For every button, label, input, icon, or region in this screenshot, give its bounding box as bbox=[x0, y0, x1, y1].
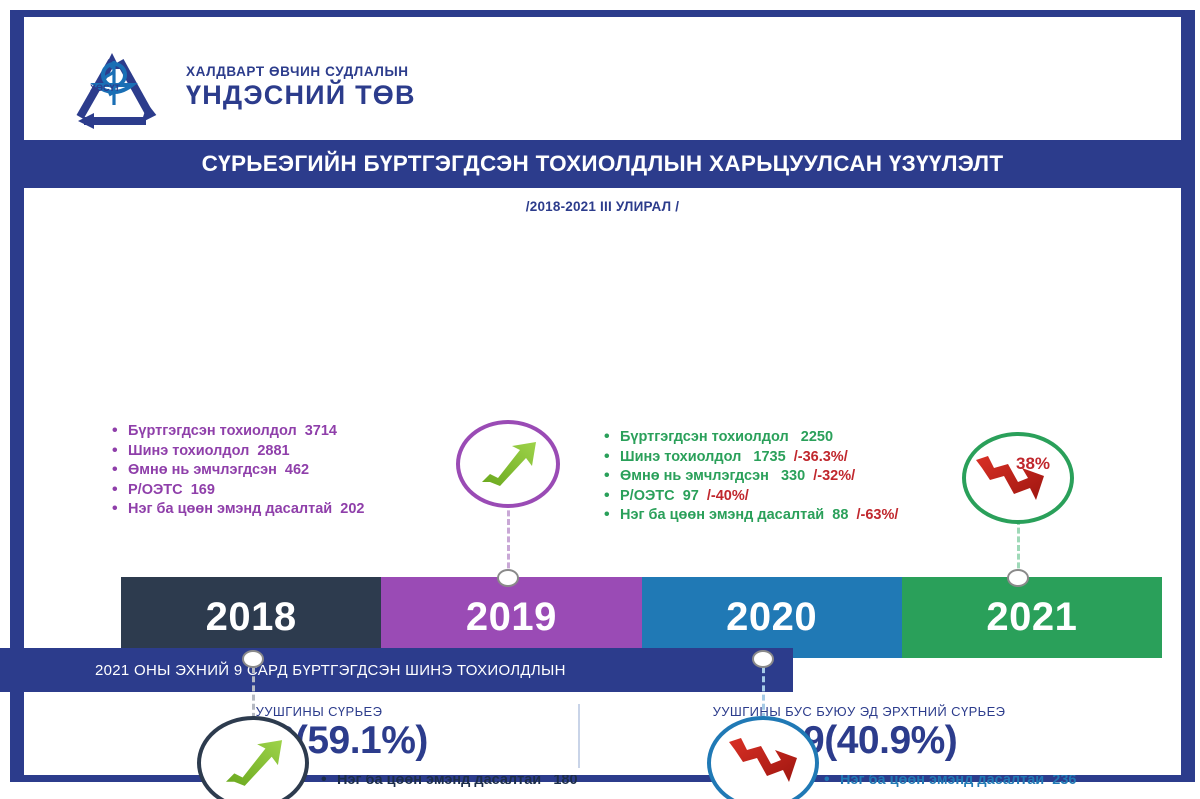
list-item: Р/ОЭТС 169 bbox=[112, 481, 365, 501]
footer-band: 2021 ОНЫ ЭХНИЙ 9 САРД БҮРТГЭГДСЭН ШИНЭ Т… bbox=[0, 648, 793, 692]
title-bar: СҮРЬЕЭГИЙН БҮРТГЭГДСЭН ТОХИОЛДЛЫН ХАРЬЦУ… bbox=[10, 140, 1195, 188]
infographic-page: ХӨСҮТ ХАЛДВАРТ ӨВЧИН СУДЛАЛЫН ҮНДЭСНИЙ Т… bbox=[0, 0, 1200, 799]
list-item: Шинэ тохиолдол 1735 /-36.3%/ bbox=[604, 448, 898, 468]
list-item: Нэг ба цөөн эмэнд дасалтай 88 /-63%/ bbox=[604, 506, 898, 526]
badge-2018[interactable] bbox=[197, 716, 309, 799]
metric-label: Р/ОЭТС bbox=[128, 482, 183, 498]
metric-label: Бүртгэгдсэн тохиолдол bbox=[128, 423, 297, 439]
org-name-line2: ҮНДЭСНИЙ ТӨВ bbox=[186, 81, 416, 111]
list-item: Өмнө нь эмчлэгдсэн 330 /-32%/ bbox=[604, 467, 898, 487]
list-item: Нэг ба цөөн эмэнд дасалтай 202 bbox=[112, 500, 365, 520]
data-block-2020: Бүртгэгдсэн тохиолдол 2250 Шинэ тохиолдо… bbox=[604, 428, 898, 526]
timeline-segment-2019[interactable]: 2019 bbox=[381, 577, 641, 658]
metric-value: 1735 bbox=[753, 449, 785, 465]
stat-caption: УУШГИНЫ СҮРЬЕЭ bbox=[109, 704, 529, 719]
arrow-up-green-icon bbox=[476, 438, 540, 490]
badge-percent-2021: 38% bbox=[1016, 454, 1050, 474]
timeline-node-2018[interactable] bbox=[242, 650, 264, 668]
timeline-bar: 2018 2019 2020 2021 bbox=[121, 577, 1162, 658]
frame-right-bar bbox=[1181, 10, 1195, 782]
year-label-2020: 2020 bbox=[726, 595, 817, 640]
metric-delta: /-36.3%/ bbox=[794, 449, 848, 465]
page-title: СҮРЬЕЭГИЙН БҮРТГЭГДСЭН ТОХИОЛДЛЫН ХАРЬЦУ… bbox=[202, 151, 1004, 177]
timeline-segment-2020[interactable]: 2020 bbox=[642, 577, 902, 658]
metric-label: Нэг ба цөөн эмэнд дасалтай bbox=[128, 501, 332, 517]
logo-monogram-text: ХӨСҮТ bbox=[90, 83, 121, 93]
stat-value: 1026(59.1%) bbox=[109, 721, 529, 762]
data-list-2019: Бүртгэгдсэн тохиолдол 3714 Шинэ тохиолдо… bbox=[112, 422, 365, 520]
stat-caption: УУШГИНЫ БУС БУЮУ ЭД ЭРХТНИЙ СҮРЬЕЭ bbox=[649, 704, 1069, 719]
badge-2021[interactable]: 38% bbox=[962, 432, 1074, 524]
timeline-node-2021[interactable] bbox=[1007, 569, 1029, 587]
data-list-2020: Бүртгэгдсэн тохиолдол 2250 Шинэ тохиолдо… bbox=[604, 428, 898, 526]
data-block-2019: Бүртгэгдсэн тохиолдол 3714 Шинэ тохиолдо… bbox=[112, 422, 365, 520]
metric-label: Шинэ тохиолдол bbox=[620, 449, 741, 465]
list-item: Бүртгэгдсэн тохиолдол 2250 bbox=[604, 428, 898, 448]
year-label-2021: 2021 bbox=[986, 595, 1077, 640]
stat-pulmonary: УУШГИНЫ СҮРЬЕЭ 1026(59.1%) bbox=[109, 704, 529, 762]
brand-text: ХАЛДВАРТ ӨВЧИН СУДЛАЛЫН ҮНДЭСНИЙ ТӨВ bbox=[186, 64, 416, 111]
list-item: Шинэ тохиолдол 2881 bbox=[112, 442, 365, 462]
header-zone: ХӨСҮТ ХАЛДВАРТ ӨВЧИН СУДЛАЛЫН ҮНДЭСНИЙ Т… bbox=[24, 17, 1181, 140]
year-label-2019: 2019 bbox=[466, 595, 557, 640]
metric-value: 202 bbox=[340, 501, 364, 517]
metric-value: 169 bbox=[191, 482, 215, 498]
metric-label: Шинэ тохиолдол bbox=[128, 443, 249, 459]
metric-label: Бүртгэгдсэн тохиолдол bbox=[620, 429, 789, 445]
metric-value: 88 bbox=[832, 507, 848, 523]
body-zone: /2018-2021 III УЛИРАЛ / 2018 2019 2020 2… bbox=[24, 188, 1181, 641]
footer-band-text: 2021 ОНЫ ЭХНИЙ 9 САРД БҮРТГЭГДСЭН ШИНЭ Т… bbox=[95, 662, 566, 679]
year-label-2018: 2018 bbox=[206, 595, 297, 640]
timeline-node-2019[interactable] bbox=[497, 569, 519, 587]
list-item: Өмнө нь эмчлэгдсэн 462 bbox=[112, 461, 365, 481]
list-item: Р/ОЭТС 97 /-40%/ bbox=[604, 487, 898, 507]
page-subtitle: /2018-2021 III УЛИРАЛ / bbox=[24, 199, 1181, 214]
metric-delta: /-32%/ bbox=[813, 468, 855, 484]
timeline-segment-2018[interactable]: 2018 bbox=[121, 577, 381, 658]
metric-value: 97 bbox=[683, 488, 699, 504]
metric-delta: /-40%/ bbox=[707, 488, 749, 504]
metric-label: Нэг ба цөөн эмэнд дасалтай bbox=[620, 507, 824, 523]
metric-value: 3714 bbox=[305, 423, 337, 439]
frame-top-bar bbox=[24, 10, 1181, 17]
timeline-segment-2021[interactable]: 2021 bbox=[902, 577, 1162, 658]
org-name-line1: ХАЛДВАРТ ӨВЧИН СУДЛАЛЫН bbox=[186, 64, 416, 81]
metric-label: Өмнө нь эмчлэгдсэн bbox=[128, 462, 277, 478]
timeline-node-2020[interactable] bbox=[752, 650, 774, 668]
metric-value: 462 bbox=[285, 462, 309, 478]
stats-divider bbox=[578, 704, 580, 768]
metric-value: 330 bbox=[781, 468, 805, 484]
metric-value: 2250 bbox=[801, 429, 833, 445]
badge-2019[interactable] bbox=[456, 420, 560, 508]
list-item: Бүртгэгдсэн тохиолдол 3714 bbox=[112, 422, 365, 442]
metric-delta: /-63%/ bbox=[857, 507, 899, 523]
brand-logo: ХӨСҮТ ХАЛДВАРТ ӨВЧИН СУДЛАЛЫН ҮНДЭСНИЙ Т… bbox=[60, 39, 416, 135]
arrow-up-green-icon bbox=[219, 736, 287, 790]
metric-value: 2881 bbox=[257, 443, 289, 459]
metric-label: Өмнө нь эмчлэгдсэн bbox=[620, 468, 769, 484]
triangle-recycle-caduceus-icon: ХӨСҮТ bbox=[60, 39, 168, 135]
arrow-down-red-icon bbox=[727, 736, 799, 790]
badge-2020[interactable] bbox=[707, 716, 819, 799]
metric-label: Р/ОЭТС bbox=[620, 488, 675, 504]
